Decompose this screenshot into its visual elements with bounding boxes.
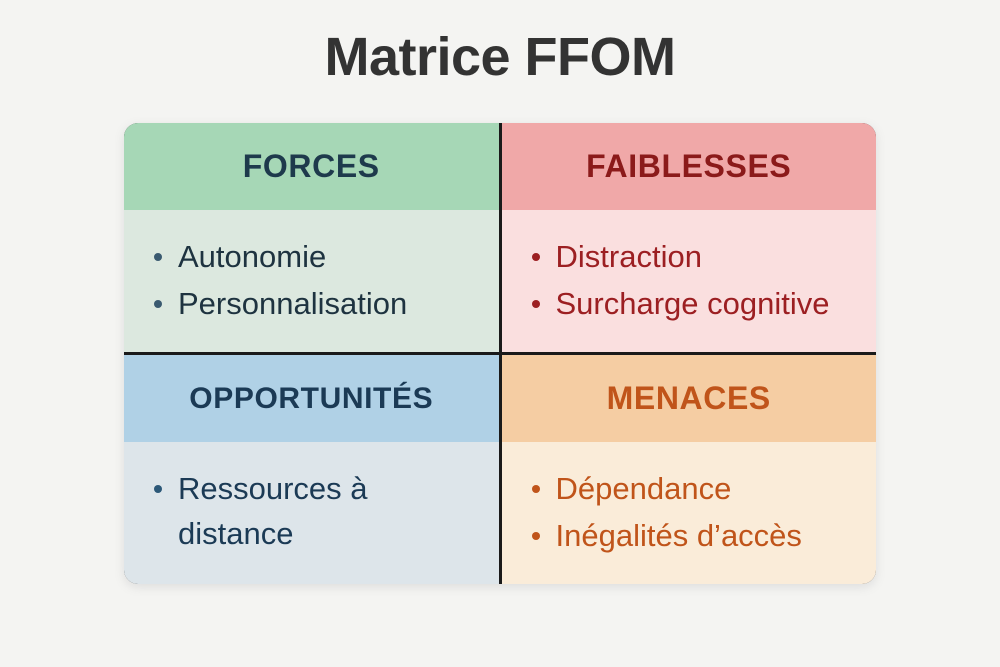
quadrant-header-menaces: MENACES: [502, 355, 877, 442]
list-item-label: Autonomie: [178, 239, 326, 274]
quadrant-body-opportunites: Ressources à distance: [124, 442, 499, 584]
quadrant-body-forces: Autonomie Personnalisation: [124, 210, 499, 352]
quadrant-header-forces: FORCES: [124, 123, 499, 210]
bullet-icon: [154, 253, 162, 261]
list-item: Ressources à distance: [152, 466, 491, 557]
item-list-faiblesses: Distraction Surcharge cognitive: [530, 234, 869, 327]
list-item: Dépendance: [530, 466, 869, 511]
list-item-label: Dépendance: [556, 471, 732, 506]
quadrant-body-faiblesses: Distraction Surcharge cognitive: [502, 210, 877, 352]
ffom-matrix: FORCES Autonomie Personnalisation FAIBLE…: [124, 123, 876, 584]
bullet-icon: [154, 300, 162, 308]
quadrant-faiblesses: FAIBLESSES Distraction Surcharge cogniti…: [502, 123, 877, 352]
quadrant-body-menaces: Dépendance Inégalités d’accès: [502, 442, 877, 584]
list-item-label: Personnalisation: [178, 286, 407, 321]
quadrant-opportunites: OPPORTUNITÉS Ressources à distance: [124, 355, 499, 584]
bullet-icon: [154, 485, 162, 493]
item-list-menaces: Dépendance Inégalités d’accès: [530, 466, 869, 559]
bullet-icon: [532, 532, 540, 540]
bullet-icon: [532, 300, 540, 308]
quadrant-header-faiblesses: FAIBLESSES: [502, 123, 877, 210]
quadrant-menaces: MENACES Dépendance Inégalités d’accès: [502, 355, 877, 584]
bullet-icon: [532, 485, 540, 493]
bullet-icon: [532, 253, 540, 261]
item-list-forces: Autonomie Personnalisation: [152, 234, 491, 327]
list-item: Personnalisation: [152, 281, 491, 326]
quadrant-forces: FORCES Autonomie Personnalisation: [124, 123, 499, 352]
list-item-label: Distraction: [556, 239, 702, 274]
list-item: Autonomie: [152, 234, 491, 279]
list-item: Surcharge cognitive: [530, 281, 869, 326]
list-item-label: Ressources à distance: [178, 471, 368, 551]
list-item-label: Surcharge cognitive: [556, 286, 830, 321]
item-list-opportunites: Ressources à distance: [152, 466, 491, 557]
list-item: Inégalités d’accès: [530, 513, 869, 558]
list-item-label: Inégalités d’accès: [556, 518, 802, 553]
quadrant-header-opportunites: OPPORTUNITÉS: [124, 355, 499, 442]
list-item: Distraction: [530, 234, 869, 279]
page-title: Matrice FFOM: [0, 28, 1000, 87]
